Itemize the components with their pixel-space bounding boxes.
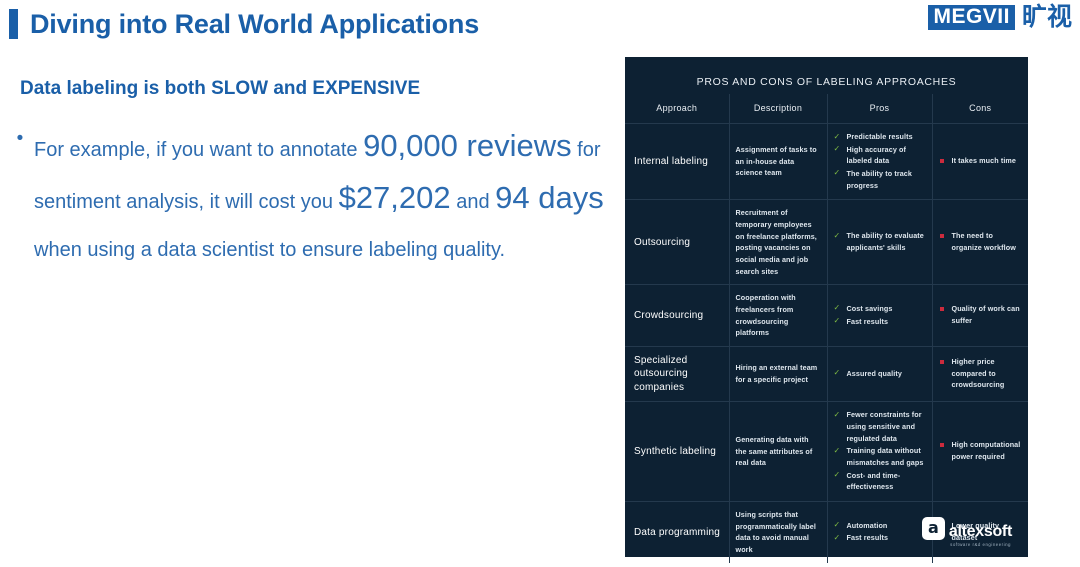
pros-cons-table: Approach Description Pros Cons Internal …	[625, 94, 1028, 563]
pros-item: Cost- and time-effectiveness	[834, 470, 926, 493]
title-accent-bar	[9, 9, 18, 39]
pros-item: Cost savings	[834, 303, 926, 315]
table-body: Internal labelingAssignment of tasks to …	[625, 124, 1028, 563]
pros-list: Cost savingsFast results	[834, 303, 926, 327]
altexsoft-logo-row: a altexsoft	[922, 517, 1012, 540]
cell-approach: Synthetic labeling	[625, 402, 729, 502]
pros-cons-table-panel: PROS AND CONS OF LABELING APPROACHES App…	[625, 57, 1028, 557]
pros-list: AutomationFast results	[834, 520, 926, 544]
cell-description: Hiring an external team for a specific p…	[729, 346, 827, 402]
bullet-marker-icon: •	[13, 122, 27, 274]
cell-description: Generating data with the same attributes…	[729, 402, 827, 502]
pros-list: Assured quality	[834, 368, 926, 380]
cell-description: Recruitment of temporary employees on fr…	[729, 200, 827, 285]
cell-cons: High computational power required	[932, 402, 1028, 502]
column-header-description: Description	[729, 94, 827, 124]
cons-item: Quality of work can suffer	[939, 303, 1023, 326]
table-row: CrowdsourcingCooperation with freelancer…	[625, 285, 1028, 347]
altexsoft-tagline: software r&d engineering	[950, 542, 1011, 547]
bullet-text: For example, if you want to annotate 90,…	[27, 122, 610, 274]
cons-list: The need to organize workflow	[939, 230, 1023, 253]
pros-item: Predictable results	[834, 131, 926, 143]
cell-cons: Quality of work can suffer	[932, 285, 1028, 347]
highlight-days: 94 days	[495, 180, 604, 215]
cell-approach: Crowdsourcing	[625, 285, 729, 347]
pros-item: High accuracy of labeled data	[834, 144, 926, 167]
altexsoft-name: altexsoft	[949, 524, 1012, 540]
table-row: Specialized outsourcing companiesHiring …	[625, 346, 1028, 402]
megvii-chinese-name: 旷视	[1022, 5, 1072, 30]
pros-list: Fewer constraints for using sensitive an…	[834, 409, 926, 493]
cell-approach: Internal labeling	[625, 124, 729, 200]
text-seg-4: and	[456, 191, 489, 213]
cell-description: Cooperation with freelancers from crowds…	[729, 285, 827, 347]
cons-item: High computational power required	[939, 439, 1023, 462]
highlight-cost: $27,202	[339, 180, 451, 215]
pros-item: The ability to track progress	[834, 168, 926, 191]
cons-list: High computational power required	[939, 439, 1023, 462]
cell-cons: The need to organize workflow	[932, 200, 1028, 285]
cons-item: The need to organize workflow	[939, 230, 1023, 253]
pros-item: The ability to evaluate applicants' skil…	[834, 230, 926, 253]
table-row: Internal labelingAssignment of tasks to …	[625, 124, 1028, 200]
pros-list: Predictable resultsHigh accuracy of labe…	[834, 131, 926, 191]
pros-item: Fewer constraints for using sensitive an…	[834, 409, 926, 444]
cell-pros: Assured quality	[827, 346, 932, 402]
table-row: OutsourcingRecruitment of temporary empl…	[625, 200, 1028, 285]
text-seg-3: will cost you	[225, 191, 333, 213]
text-seg-5: when using a data scientist to ensure la…	[34, 239, 438, 261]
cons-list: It takes much time	[939, 155, 1023, 167]
page-title: Diving into Real World Applications	[30, 9, 479, 40]
cell-description: Assignment of tasks to an in-house data …	[729, 124, 827, 200]
column-header-cons: Cons	[932, 94, 1028, 124]
table-head: Approach Description Pros Cons	[625, 94, 1028, 124]
cell-pros: Fewer constraints for using sensitive an…	[827, 402, 932, 502]
megvii-wordmark: MEGVII	[928, 5, 1015, 30]
table-row: Synthetic labelingGenerating data with t…	[625, 402, 1028, 502]
subheading: Data labeling is both SLOW and EXPENSIVE	[20, 78, 610, 100]
cell-pros: AutomationFast results	[827, 501, 932, 562]
slide-header: Diving into Real World Applications	[0, 0, 1080, 48]
pros-item: Fast results	[834, 532, 926, 544]
text-seg-6: quality.	[443, 239, 505, 261]
column-header-approach: Approach	[625, 94, 729, 124]
cell-pros: Cost savingsFast results	[827, 285, 932, 347]
cell-pros: The ability to evaluate applicants' skil…	[827, 200, 932, 285]
slide: Diving into Real World Applications MEGV…	[0, 0, 1080, 567]
pros-item: Assured quality	[834, 368, 926, 380]
cell-description: Using scripts that programmatically labe…	[729, 501, 827, 562]
cell-cons: It takes much time	[932, 124, 1028, 200]
pros-list: The ability to evaluate applicants' skil…	[834, 230, 926, 253]
highlight-reviews: 90,000 reviews	[363, 128, 572, 163]
cell-approach: Outsourcing	[625, 200, 729, 285]
column-header-pros: Pros	[827, 94, 932, 124]
table-header-row: Approach Description Pros Cons	[625, 94, 1028, 124]
bullet-item: • For example, if you want to annotate 9…	[13, 122, 610, 274]
cell-approach: Data programming	[625, 501, 729, 562]
cell-approach: Specialized outsourcing companies	[625, 346, 729, 402]
pros-item: Automation	[834, 520, 926, 532]
altexsoft-mark-icon: a	[922, 517, 945, 540]
cell-cons: Higher price compared to crowdsourcing	[932, 346, 1028, 402]
pros-item: Training data without mismatches and gap…	[834, 445, 926, 468]
cell-pros: Predictable resultsHigh accuracy of labe…	[827, 124, 932, 200]
megvii-logo: MEGVII 旷视	[928, 5, 1072, 30]
left-content-column: Data labeling is both SLOW and EXPENSIVE…	[0, 78, 610, 274]
cons-list: Higher price compared to crowdsourcing	[939, 356, 1023, 391]
table-title: PROS AND CONS OF LABELING APPROACHES	[625, 57, 1028, 94]
cons-list: Quality of work can suffer	[939, 303, 1023, 326]
cons-item: It takes much time	[939, 155, 1023, 167]
cons-item: Higher price compared to crowdsourcing	[939, 356, 1023, 391]
altexsoft-logo: a altexsoft software r&d engineering	[922, 517, 1012, 547]
text-seg-1: For example, if you want to annotate	[34, 139, 358, 161]
pros-item: Fast results	[834, 316, 926, 328]
